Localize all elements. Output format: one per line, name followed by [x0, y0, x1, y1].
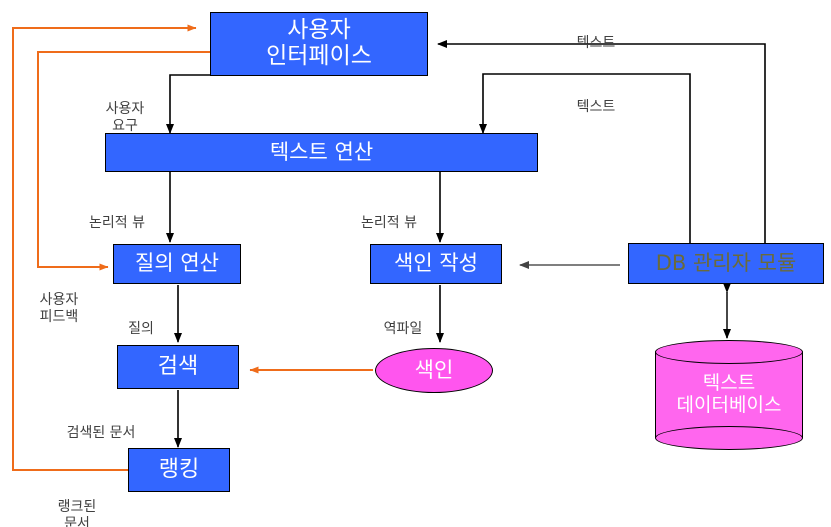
- edge-user-interface-to-text-operations: [170, 75, 210, 133]
- edge-label-retrieved-docs-value: 검색된 문서: [67, 425, 136, 441]
- diagram-canvas: 사용자 인터페이스 텍스트 연산 질의 연산 색인 작성 DB 관리자 모듈 검…: [0, 0, 831, 527]
- node-searching-label: 검색: [158, 355, 198, 380]
- edge-label-user-feedback: 사용자 피드백: [20, 275, 98, 325]
- node-indexing-label: 색인 작성: [394, 252, 478, 276]
- node-text-database-label: 텍스트 데이터베이스: [655, 340, 803, 450]
- edge-label-user-feedback-value: 사용자 피드백: [40, 292, 79, 325]
- node-query-operations-label: 질의 연산: [135, 252, 219, 276]
- edge-label-logical-view-left: 논리적 뷰: [72, 198, 162, 232]
- node-user-interface[interactable]: 사용자 인터페이스: [210, 12, 428, 76]
- edge-label-logical-view-right: 논리적 뷰: [344, 198, 434, 232]
- edge-label-user-need-value: 사용자 요구: [106, 101, 145, 134]
- edge-label-text-second-value: 텍스트: [577, 99, 616, 115]
- node-ranking-label: 랭킹: [159, 458, 199, 483]
- node-indexing[interactable]: 색인 작성: [370, 244, 502, 284]
- node-db-manager[interactable]: DB 관리자 모듈: [628, 243, 824, 284]
- node-index[interactable]: 색인: [375, 348, 493, 393]
- edge-label-retrieved-docs: 검색된 문서: [38, 408, 164, 442]
- node-index-label: 색인: [415, 359, 454, 383]
- edge-label-query-value: 질의: [128, 321, 154, 337]
- edge-label-inverted-file-value: 역파일: [384, 321, 423, 337]
- edge-label-text-top: 텍스트: [551, 18, 641, 52]
- node-text-database[interactable]: 텍스트 데이터베이스: [655, 340, 803, 450]
- edge-label-inverted-file: 역파일: [372, 304, 434, 338]
- edge-label-logical-view-left-value: 논리적 뷰: [89, 215, 145, 231]
- edge-label-user-need: 사용자 요구: [85, 84, 165, 134]
- edge-label-ranked-docs: 랭크된 문서: [38, 482, 116, 527]
- node-user-interface-label: 사용자 인터페이스: [266, 18, 372, 70]
- edge-label-ranked-docs-value: 랭크된 문서: [58, 499, 97, 527]
- node-ranking[interactable]: 랭킹: [128, 448, 230, 492]
- node-text-operations[interactable]: 텍스트 연산: [105, 133, 538, 172]
- node-db-manager-label: DB 관리자 모듈: [656, 252, 797, 276]
- node-searching[interactable]: 검색: [117, 345, 239, 389]
- edge-label-logical-view-right-value: 논리적 뷰: [361, 215, 417, 231]
- edge-label-text-top-value: 텍스트: [577, 35, 616, 51]
- edge-label-text-second: 텍스트: [551, 82, 641, 116]
- edge-label-query: 질의: [118, 304, 164, 338]
- node-text-operations-label: 텍스트 연산: [270, 141, 373, 165]
- node-query-operations[interactable]: 질의 연산: [113, 244, 241, 284]
